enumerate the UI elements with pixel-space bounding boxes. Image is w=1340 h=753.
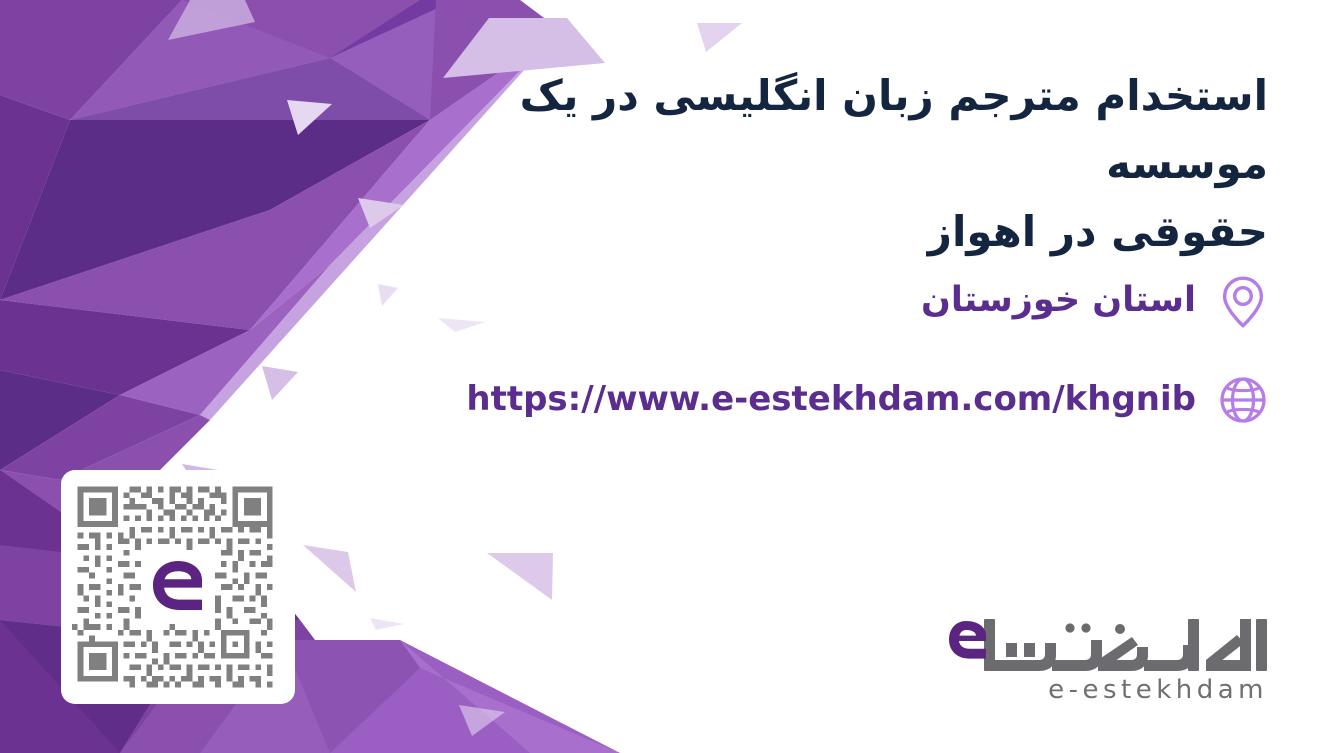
page-title: استخدام مترجم زبان انگلیسی در یک موسسه ح… [348,62,1268,266]
qr-code-matrix [72,481,284,693]
brand-wordmark-fa [948,617,1270,673]
brand-logo: e-estekhdam [940,617,1270,705]
website-url[interactable]: https://www.e-estekhdam.com/khgnib [466,379,1196,422]
job-poster-card: استخدام مترجم زبان انگلیسی در یک موسسه ح… [0,0,1340,753]
brand-wordmark-en: e-estekhdam [940,675,1270,705]
qr-center-logo [141,550,215,624]
job-title-line-1: استخدام مترجم زبان انگلیسی در یک موسسه [520,71,1268,188]
map-pin-icon [1216,275,1270,329]
location-row: استان خوزستان [921,272,1270,332]
qr-code[interactable] [61,470,295,704]
globe-icon [1216,373,1270,427]
job-title-line-2: حقوقی در اهواز [928,207,1268,256]
location-label: استان خوزستان [921,280,1196,324]
website-row[interactable]: https://www.e-estekhdam.com/khgnib [466,370,1270,430]
